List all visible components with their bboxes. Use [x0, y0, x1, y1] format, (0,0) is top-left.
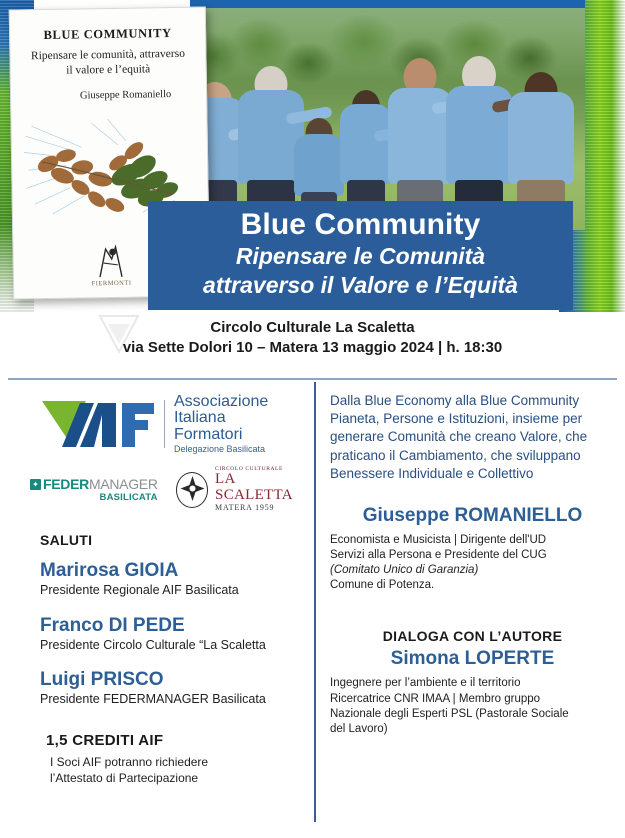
event-title: Blue Community	[158, 209, 563, 241]
credits-block: 1,5 CREDITI AIF I Soci AIF potranno rich…	[46, 732, 306, 786]
credits-text: I Soci AIF potranno richiedere l’Attesta…	[50, 754, 306, 786]
dialoga-heading: DIALOGA CON L’AUTORE	[330, 628, 615, 644]
interlocutor-bio-line4-italic: del Lavoro	[330, 723, 384, 735]
venue-address-datetime: via Sette Dolori 10 – Matera 13 maggio 2…	[0, 338, 625, 358]
author-bio: Economista e Musicista | Dirigente dell'…	[330, 533, 615, 594]
federmanager-badge-icon: ✦	[30, 479, 41, 490]
la-scaletta-cross-icon	[176, 472, 208, 508]
venue-info: Circolo Culturale La Scaletta via Sette …	[0, 318, 625, 357]
speaker-name: Franco DI PEDE	[40, 615, 306, 637]
la-scaletta-name: LA SCALETTA	[215, 472, 306, 504]
aif-word-italiana: Italiana	[174, 410, 268, 426]
author-bio-line1: Economista e Musicista | Dirigente dell'…	[330, 533, 615, 548]
speaker-entry: Franco DI PEDE Presidente Circolo Cultur…	[40, 615, 306, 653]
aif-wordmark: Associazione Italiana Formatori Delegazi…	[174, 394, 268, 455]
credits-line2: l’Attestato di Partecipazione	[50, 770, 306, 786]
book-author: Giuseppe Romaniello	[11, 88, 206, 102]
community-photo	[190, 0, 585, 230]
interlocutor-bio-line4-end: )	[384, 723, 388, 735]
interlocutor-name: Simona LOPERTE	[330, 648, 615, 671]
event-subtitle-line2: attraverso il Valore e l’Equità	[158, 272, 563, 298]
la-scaletta-sub: MATERA 1959	[215, 504, 306, 512]
speaker-role: Presidente Circolo Culturale “La Scalett…	[40, 638, 306, 654]
interlocutor-bio-line3: Nazionale degli Esperti PSL (Pastorale S…	[330, 707, 615, 722]
federmanager-wordmark: ✦ FEDER MANAGER	[30, 476, 158, 492]
publisher-name: FIERMONTI	[92, 280, 132, 288]
speaker-role: Presidente Regionale AIF Basilicata	[40, 583, 306, 599]
right-column: Dalla Blue Economy alla Blue Community P…	[330, 392, 615, 737]
title-banner: Blue Community Ripensare le Comunità att…	[148, 201, 573, 310]
book-subtitle-line1: Ripensare le comunità, attraverso	[10, 46, 205, 64]
event-poster: BLUE COMMUNITY Ripensare le comunità, at…	[0, 0, 625, 838]
author-bio-line2: Servizi alla Persona e Presidente del CU…	[330, 548, 615, 563]
author-block: Giuseppe ROMANIELLO Economista e Musicis…	[330, 505, 615, 593]
aif-word-associazione: Associazione	[174, 394, 268, 410]
aif-logomark-icon	[40, 397, 158, 451]
aif-logo-rule	[164, 400, 165, 448]
interlocutor-bio-line2: Ricercatrice CNR IMAA | Membro gruppo	[330, 692, 615, 707]
interlocutor-bio-line1: Ingegnere per l’ambiente e il territorio	[330, 676, 615, 691]
aif-word-delegazione: Delegazione Basilicata	[174, 445, 268, 454]
federmanager-part1: FEDER	[43, 476, 89, 492]
credits-title: 1,5 CREDITI AIF	[46, 732, 306, 749]
federmanager-part2: MANAGER	[89, 476, 158, 492]
la-scaletta-wordmark: CIRCOLO CULTURALE LA SCALETTA MATERA 195…	[215, 467, 306, 513]
speaker-name: Luigi PRISCO	[40, 669, 306, 691]
speaker-entry: Marirosa GIOIA Presidente Regionale AIF …	[40, 560, 306, 598]
speaker-role: Presidente FEDERMANAGER Basilicata	[40, 692, 306, 708]
author-name: Giuseppe ROMANIELLO	[330, 505, 615, 528]
book-title: BLUE COMMUNITY	[10, 25, 205, 43]
speaker-name: Marirosa GIOIA	[40, 560, 306, 582]
speaker-entry: Luigi PRISCO Presidente FEDERMANAGER Bas…	[40, 669, 306, 707]
aif-logo: Associazione Italiana Formatori Delegazi…	[40, 394, 306, 455]
aif-word-formatori: Formatori	[174, 427, 268, 443]
book-publisher: FIERMONTI	[91, 243, 132, 288]
publisher-logo-icon	[94, 243, 129, 280]
interlocutor-bio-line4: del Lavoro)	[330, 722, 615, 737]
venue-name: Circolo Culturale La Scaletta	[0, 318, 625, 338]
author-bio-line4: Comune di Potenza.	[330, 578, 615, 593]
event-subtitle-line1: Ripensare le Comunità	[158, 243, 563, 269]
interlocutor-bio-line3-italic: Pastorale Sociale	[479, 708, 569, 720]
interlocutor-bio: Ingegnere per l’ambiente e il territorio…	[330, 676, 615, 737]
la-scaletta-logo: CIRCOLO CULTURALE LA SCALETTA MATERA 195…	[176, 467, 306, 513]
federmanager-logo: ✦ FEDER MANAGER BASILICATA	[30, 476, 158, 503]
saluti-heading: SALUTI	[40, 532, 306, 548]
horizontal-divider	[8, 378, 617, 380]
partner-logos-row: ✦ FEDER MANAGER BASILICATA CIRCOLO CULTU…	[30, 467, 306, 513]
vertical-divider	[314, 382, 316, 822]
credits-line1: I Soci AIF potranno richiedere	[50, 754, 306, 770]
author-bio-line3: (Comitato Unico di Garanzia)	[330, 563, 615, 578]
book-subtitle-line2: il valore e l’equità	[11, 61, 206, 79]
federmanager-sub: BASILICATA	[100, 492, 158, 503]
left-column: Associazione Italiana Formatori Delegazi…	[16, 388, 306, 786]
interlocutor-bio-line3-text: Nazionale degli Esperti PSL (	[330, 708, 479, 720]
intro-paragraph: Dalla Blue Economy alla Blue Community P…	[330, 392, 615, 483]
